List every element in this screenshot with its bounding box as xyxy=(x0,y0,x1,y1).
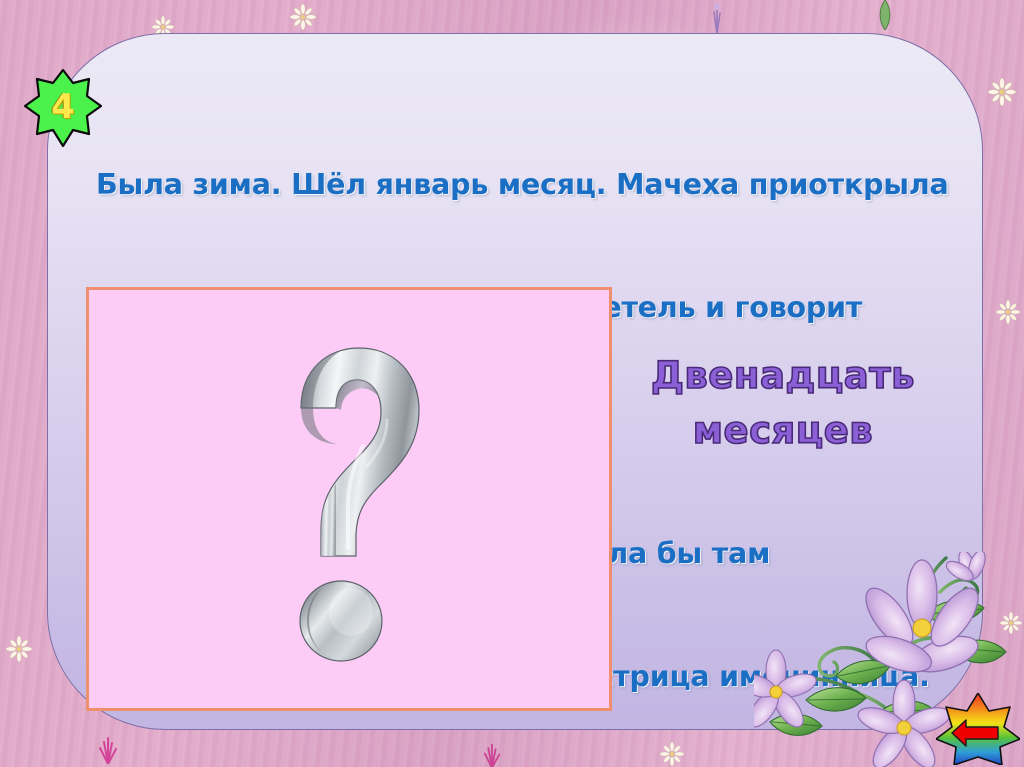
white-daisy xyxy=(6,636,32,662)
answer-text: Двенадцать месяцев xyxy=(618,348,948,458)
white-daisy xyxy=(1000,612,1022,634)
slide-number-value: 4 xyxy=(24,68,102,148)
question-image-frame xyxy=(86,287,612,711)
slide-number-badge: 4 xyxy=(24,68,102,148)
lilac-sprig xyxy=(706,0,728,34)
white-daisy xyxy=(988,78,1016,106)
white-daisy xyxy=(290,4,316,30)
presentation-slide: Была зима. Шёл январь месяц. Мачеха прио… xyxy=(0,0,1024,767)
back-navigation-button[interactable] xyxy=(936,693,1020,765)
question-mark-icon xyxy=(239,334,459,664)
white-daisy xyxy=(996,300,1020,324)
answer-line: месяцев xyxy=(618,403,948,458)
rainbow-star-back-icon[interactable] xyxy=(936,693,1020,765)
green-leaf-sprig xyxy=(872,0,898,30)
answer-line: Двенадцать xyxy=(618,348,948,403)
story-line: Была зима. Шёл январь месяц. Мачеха прио… xyxy=(96,164,962,205)
